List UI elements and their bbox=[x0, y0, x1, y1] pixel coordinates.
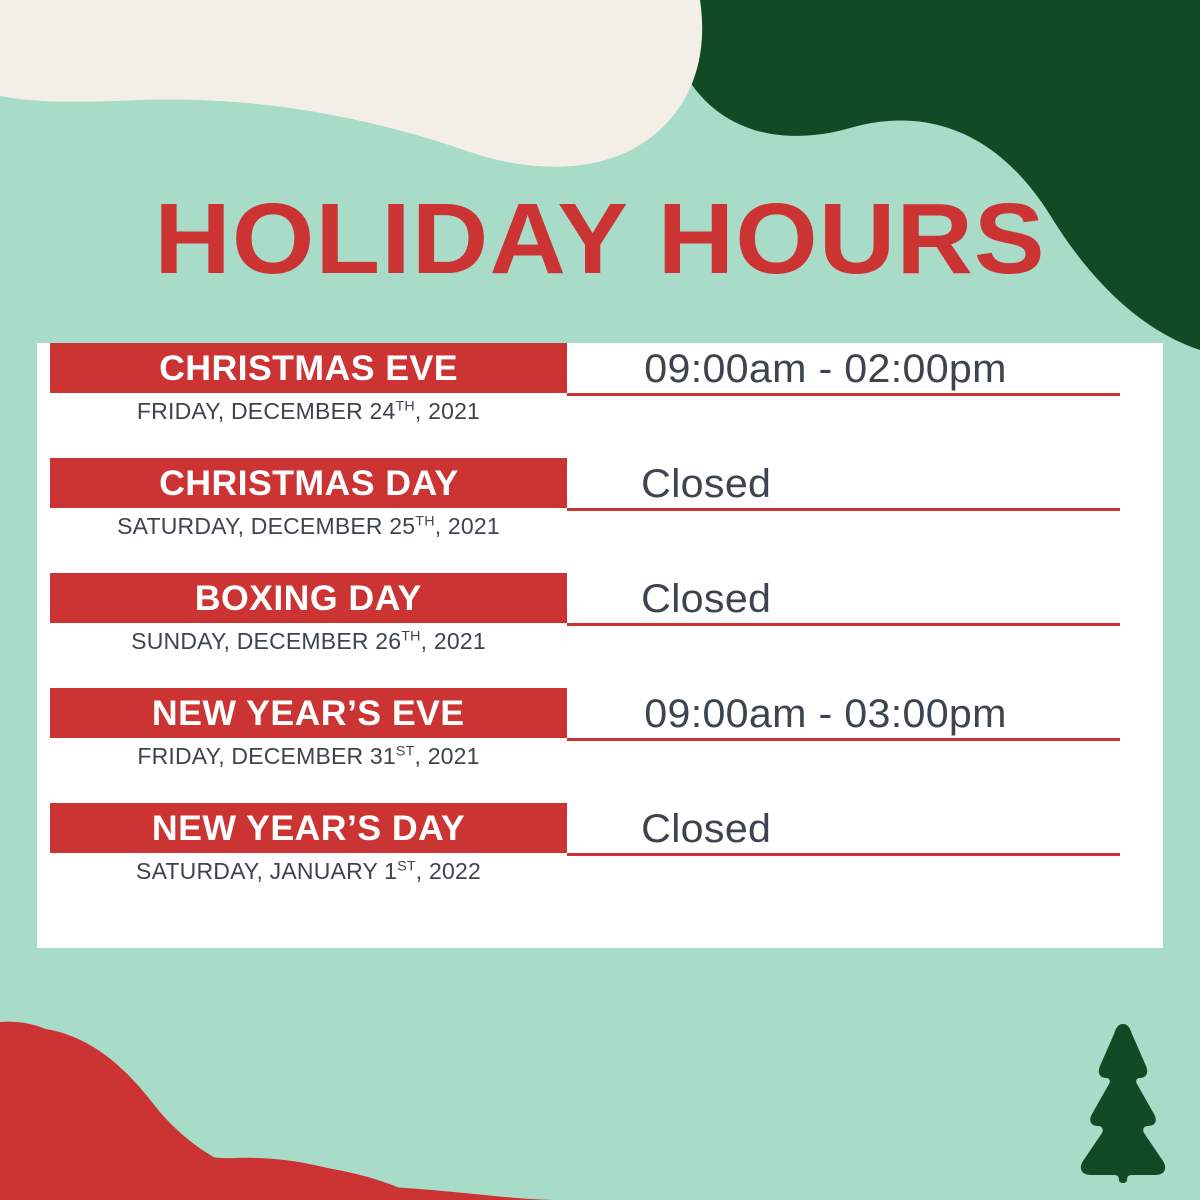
hours-value: 09:00am - 02:00pm bbox=[567, 347, 1007, 393]
holiday-date: SUNDAY, DECEMBER 26TH, 2021 bbox=[50, 628, 567, 654]
date-year: , 2021 bbox=[415, 398, 480, 424]
date-year: , 2021 bbox=[421, 628, 486, 654]
holiday-banner: CHRISTMAS EVE bbox=[50, 343, 567, 393]
holiday-column: CHRISTMAS EVE FRIDAY, DECEMBER 24TH, 202… bbox=[50, 343, 567, 424]
date-prefix: SATURDAY, JANUARY 1 bbox=[136, 858, 397, 884]
holiday-column: NEW YEAR’S DAY SATURDAY, JANUARY 1ST, 20… bbox=[50, 803, 567, 884]
date-ordinal-suffix: TH bbox=[396, 398, 415, 414]
holiday-column: BOXING DAY SUNDAY, DECEMBER 26TH, 2021 bbox=[50, 573, 567, 654]
holiday-name: BOXING DAY bbox=[195, 581, 422, 616]
hours-column: Closed bbox=[567, 458, 1120, 511]
table-row: CHRISTMAS EVE FRIDAY, DECEMBER 24TH, 202… bbox=[37, 343, 1163, 458]
hours-value: Closed bbox=[567, 577, 771, 623]
hours-column: 09:00am - 02:00pm bbox=[567, 343, 1120, 396]
date-ordinal-suffix: ST bbox=[397, 858, 416, 874]
holiday-column: NEW YEAR’S EVE FRIDAY, DECEMBER 31ST, 20… bbox=[50, 688, 567, 769]
page-title: HOLIDAY HOURS bbox=[0, 184, 1200, 294]
holiday-banner: NEW YEAR’S DAY bbox=[50, 803, 567, 853]
holiday-banner: CHRISTMAS DAY bbox=[50, 458, 567, 508]
holiday-name: NEW YEAR’S DAY bbox=[152, 811, 465, 846]
hours-value: Closed bbox=[567, 462, 771, 508]
holiday-date: SATURDAY, JANUARY 1ST, 2022 bbox=[50, 858, 567, 884]
christmas-tree-icon bbox=[1068, 1018, 1178, 1183]
holiday-date: SATURDAY, DECEMBER 25TH, 2021 bbox=[50, 513, 567, 539]
hours-value: 09:00am - 03:00pm bbox=[567, 692, 1007, 738]
date-prefix: SUNDAY, DECEMBER 26 bbox=[131, 628, 401, 654]
holiday-banner: BOXING DAY bbox=[50, 573, 567, 623]
hours-value: Closed bbox=[567, 807, 771, 853]
red-wave-accurate bbox=[0, 1022, 950, 1200]
holiday-name: NEW YEAR’S EVE bbox=[152, 696, 465, 731]
hours-column: 09:00am - 03:00pm bbox=[567, 688, 1120, 741]
schedule-rows: CHRISTMAS EVE FRIDAY, DECEMBER 24TH, 202… bbox=[37, 343, 1163, 918]
holiday-hours-poster: HOLIDAY HOURS CHRISTMAS EVE FRIDAY, DECE… bbox=[0, 0, 1200, 1200]
date-prefix: FRIDAY, DECEMBER 31 bbox=[137, 743, 396, 769]
date-year: , 2021 bbox=[415, 743, 480, 769]
hours-column: Closed bbox=[567, 803, 1120, 856]
holiday-date: FRIDAY, DECEMBER 24TH, 2021 bbox=[50, 398, 567, 424]
date-prefix: FRIDAY, DECEMBER 24 bbox=[137, 398, 396, 424]
table-row: BOXING DAY SUNDAY, DECEMBER 26TH, 2021 C… bbox=[37, 573, 1163, 688]
date-ordinal-suffix: TH bbox=[415, 513, 434, 529]
schedule-card: CHRISTMAS EVE FRIDAY, DECEMBER 24TH, 202… bbox=[37, 343, 1163, 948]
holiday-name: CHRISTMAS DAY bbox=[159, 466, 459, 501]
table-row: NEW YEAR’S EVE FRIDAY, DECEMBER 31ST, 20… bbox=[37, 688, 1163, 803]
holiday-column: CHRISTMAS DAY SATURDAY, DECEMBER 25TH, 2… bbox=[50, 458, 567, 539]
date-prefix: SATURDAY, DECEMBER 25 bbox=[117, 513, 415, 539]
date-ordinal-suffix: TH bbox=[401, 628, 420, 644]
holiday-name: CHRISTMAS EVE bbox=[159, 351, 458, 386]
date-year: , 2022 bbox=[416, 858, 481, 884]
hours-column: Closed bbox=[567, 573, 1120, 626]
table-row: CHRISTMAS DAY SATURDAY, DECEMBER 25TH, 2… bbox=[37, 458, 1163, 573]
holiday-banner: NEW YEAR’S EVE bbox=[50, 688, 567, 738]
table-row: NEW YEAR’S DAY SATURDAY, JANUARY 1ST, 20… bbox=[37, 803, 1163, 918]
holiday-date: FRIDAY, DECEMBER 31ST, 2021 bbox=[50, 743, 567, 769]
date-ordinal-suffix: ST bbox=[396, 743, 415, 759]
date-year: , 2021 bbox=[435, 513, 500, 539]
